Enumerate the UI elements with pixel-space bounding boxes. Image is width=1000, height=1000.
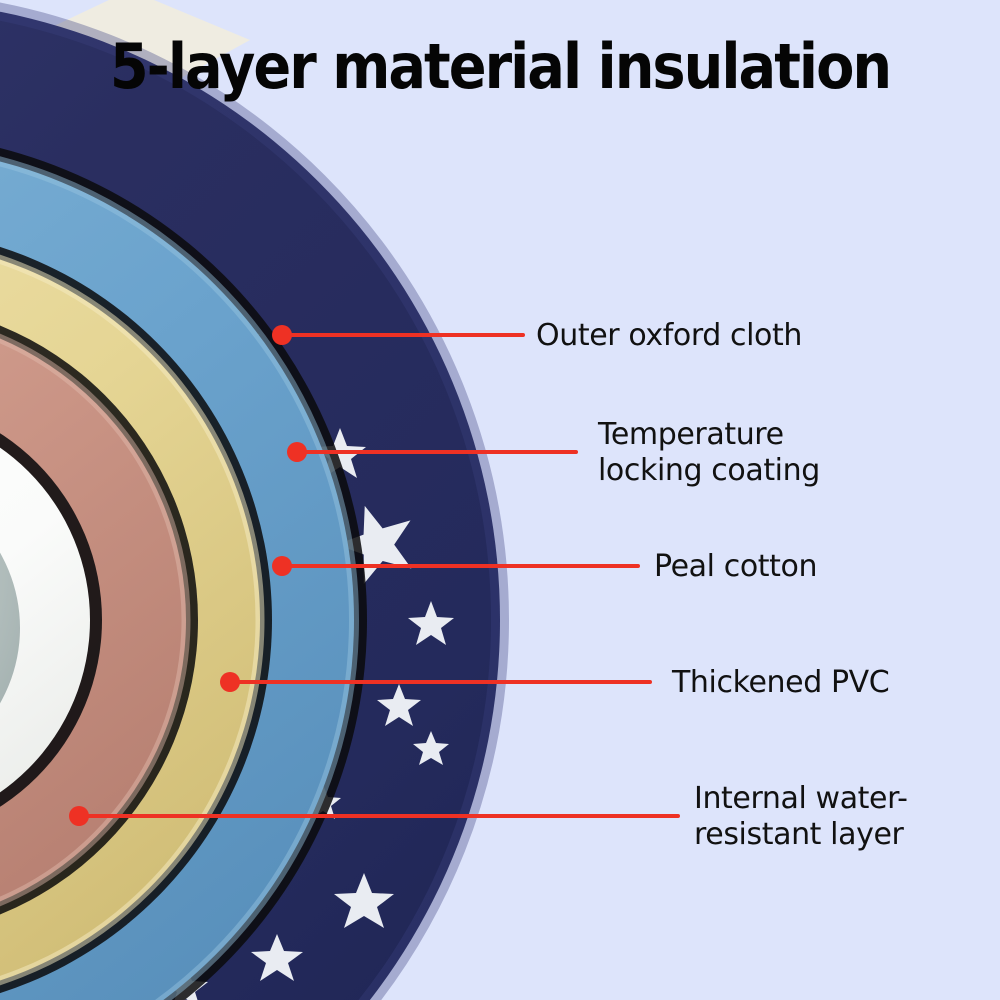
callout-line-peal-cotton xyxy=(282,564,640,568)
callout-dot-peal-cotton xyxy=(272,556,292,576)
infographic-page: 5-layer material insulation Outer oxford… xyxy=(0,0,1000,1000)
page-title: 5-layer material insulation xyxy=(50,34,950,101)
callout-dot-internal-water-resistant-layer xyxy=(69,806,89,826)
callout-label-temperature-locking-coating: Temperature locking coating xyxy=(598,417,820,489)
callout-label-thickened-pvc: Thickened PVC xyxy=(672,665,889,701)
callout-dot-outer-oxford-cloth xyxy=(272,325,292,345)
callout-label-outer-oxford-cloth: Outer oxford cloth xyxy=(536,318,802,354)
callout-dot-thickened-pvc xyxy=(220,672,240,692)
callout-label-internal-water-resistant-layer: Internal water- resistant layer xyxy=(694,781,908,853)
callout-line-outer-oxford-cloth xyxy=(282,333,525,337)
callout-label-peal-cotton: Peal cotton xyxy=(654,549,817,585)
callout-line-thickened-pvc xyxy=(230,680,652,684)
callout-line-temperature-locking-coating xyxy=(297,450,578,454)
callout-line-internal-water-resistant-layer xyxy=(79,814,680,818)
callout-dot-temperature-locking-coating xyxy=(287,442,307,462)
